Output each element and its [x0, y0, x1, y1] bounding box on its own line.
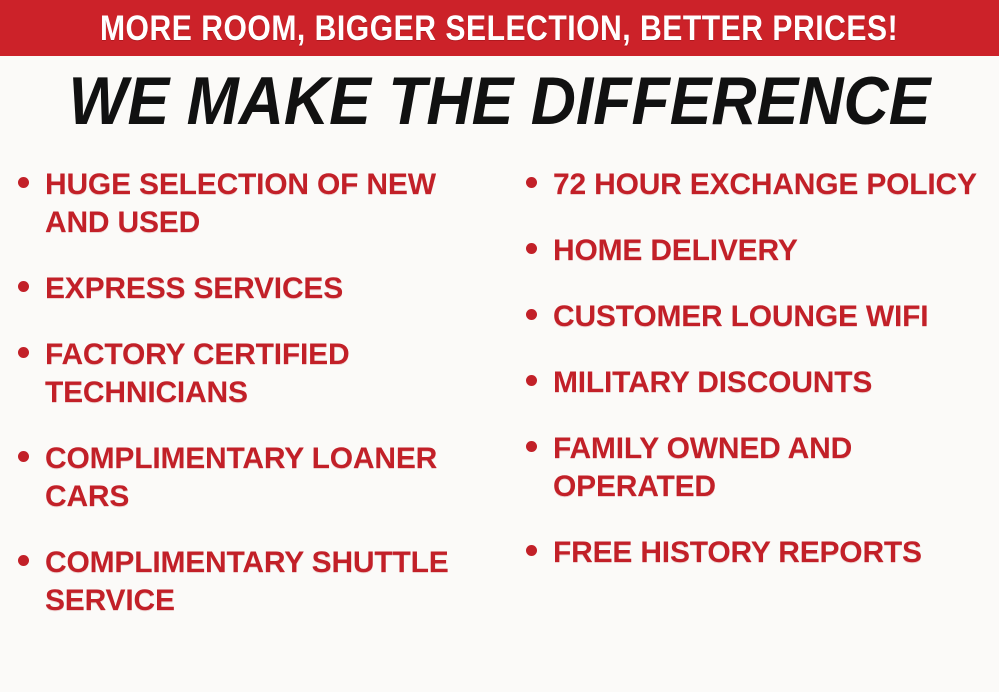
features-column-right: 72 HOUR EXCHANGE POLICY HOME DELIVERY CU… — [505, 158, 999, 692]
bullet-dot-icon — [526, 375, 537, 386]
features-columns: HUGE SELECTION OF NEW AND USED EXPRESS S… — [0, 158, 999, 692]
list-item: COMPLIMENTARY SHUTTLE SERVICE — [18, 544, 505, 620]
features-column-left: HUGE SELECTION OF NEW AND USED EXPRESS S… — [0, 158, 505, 692]
list-item-label: HUGE SELECTION OF NEW AND USED — [45, 166, 497, 242]
bullet-dot-icon — [526, 177, 537, 188]
top-banner: MORE ROOM, BIGGER SELECTION, BETTER PRIC… — [0, 0, 999, 56]
list-item: EXPRESS SERVICES — [18, 270, 505, 308]
list-item: MILITARY DISCOUNTS — [526, 364, 999, 402]
list-item: COMPLIMENTARY LOANER CARS — [18, 440, 505, 516]
bullet-dot-icon — [18, 281, 29, 292]
bullet-dot-icon — [526, 243, 537, 254]
bullet-dot-icon — [18, 555, 29, 566]
bullet-dot-icon — [526, 309, 537, 320]
list-item: HOME DELIVERY — [526, 232, 999, 270]
list-item: CUSTOMER LOUNGE WIFI — [526, 298, 999, 336]
bullet-dot-icon — [18, 347, 29, 358]
list-item-label: CUSTOMER LOUNGE WIFI — [553, 298, 928, 336]
list-item: FREE HISTORY REPORTS — [526, 534, 999, 572]
list-item-label: FACTORY CERTIFIED TECHNICIANS — [45, 336, 497, 412]
bullet-dot-icon — [18, 177, 29, 188]
bullet-dot-icon — [526, 441, 537, 452]
list-item-label: COMPLIMENTARY SHUTTLE SERVICE — [45, 544, 497, 620]
banner-headline: MORE ROOM, BIGGER SELECTION, BETTER PRIC… — [100, 11, 898, 46]
page-title: WE MAKE THE DIFFERENCE — [69, 67, 931, 135]
list-item-label: 72 HOUR EXCHANGE POLICY — [553, 166, 977, 204]
list-item-label: FAMILY OWNED AND OPERATED — [553, 430, 999, 506]
list-item: FAMILY OWNED AND OPERATED — [526, 430, 999, 506]
list-item-label: EXPRESS SERVICES — [45, 270, 343, 308]
headline-container: WE MAKE THE DIFFERENCE — [0, 62, 999, 140]
list-item: 72 HOUR EXCHANGE POLICY — [526, 166, 999, 204]
promo-poster: MORE ROOM, BIGGER SELECTION, BETTER PRIC… — [0, 0, 999, 692]
list-item: FACTORY CERTIFIED TECHNICIANS — [18, 336, 505, 412]
list-item-label: COMPLIMENTARY LOANER CARS — [45, 440, 497, 516]
bullet-dot-icon — [18, 451, 29, 462]
list-item-label: FREE HISTORY REPORTS — [553, 534, 922, 572]
list-item: HUGE SELECTION OF NEW AND USED — [18, 166, 505, 242]
list-item-label: HOME DELIVERY — [553, 232, 798, 270]
bullet-dot-icon — [526, 545, 537, 556]
list-item-label: MILITARY DISCOUNTS — [553, 364, 872, 402]
